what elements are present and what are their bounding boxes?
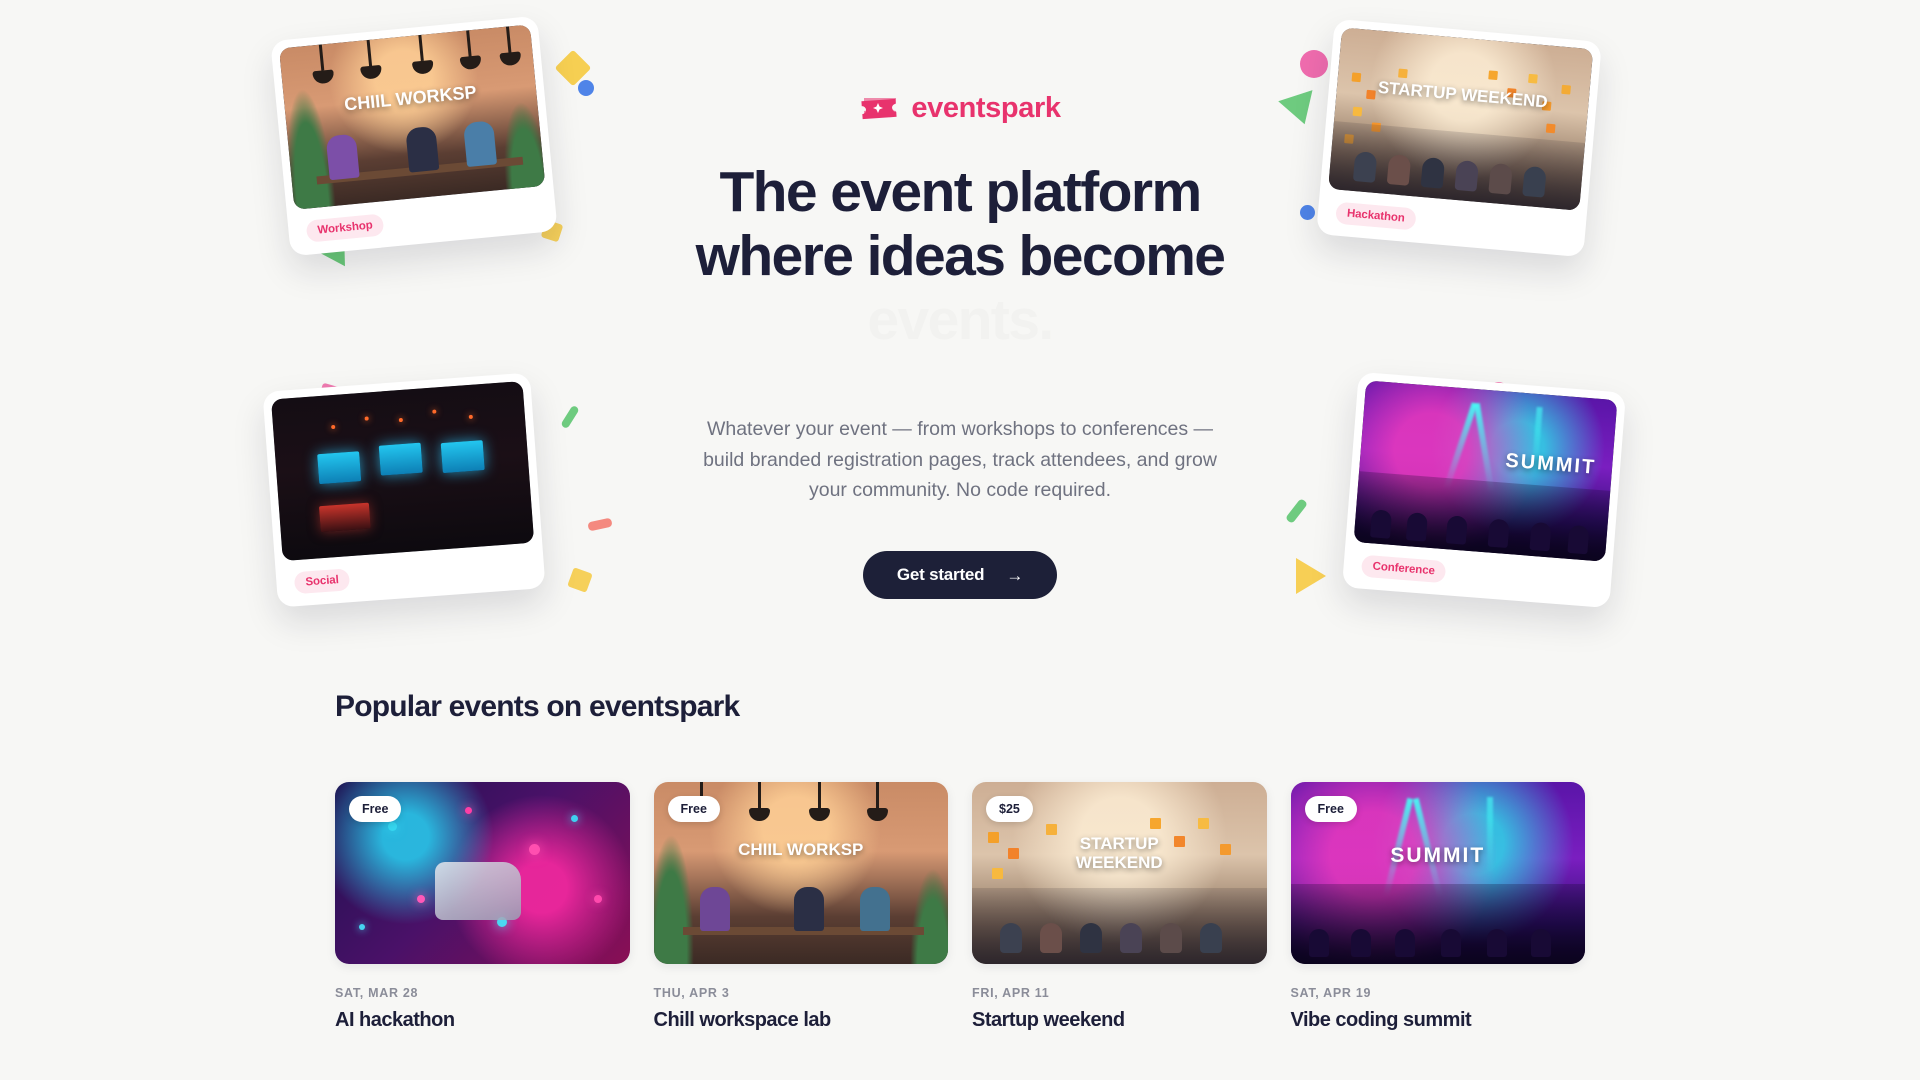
photo-art-coworking-space [279,24,545,209]
card-tag-badge: Social [294,568,351,594]
event-name: Vibe coding summit [1291,1009,1586,1032]
headline-line-2: where ideas become [610,225,1310,289]
card-tag-badge: Conference [1361,555,1447,584]
subtitle-line-1: Whatever your event — from workshops to … [707,418,1213,440]
pink-circle-icon [1300,50,1328,78]
event-name: AI hackathon [335,1009,630,1032]
hero-subtitle: Whatever your event — from workshops to … [610,414,1310,505]
event-date: SAT, MAR 28 [335,986,630,1000]
event-card[interactable]: Free CHIIL W [654,782,949,1032]
card-tag-badge: Hackathon [1335,202,1417,231]
event-date: FRI, APR 11 [972,986,1267,1000]
event-thumbnail: Free [335,782,630,964]
cta-container: Get started → [610,551,1310,599]
subtitle-line-2: build branded registration pages, track … [703,449,1217,471]
hero-section: CHIIL WORKSP Workshop [0,0,1920,690]
landing-page: CHIIL WORKSP Workshop [0,0,1920,1080]
green-bar-icon [560,405,580,430]
page-title: The event platform where ideas become ev… [610,161,1310,352]
card-photo: CHIIL WORKSP [279,24,545,209]
event-name: Startup weekend [972,1009,1267,1032]
arrow-right-icon: → [1006,567,1023,584]
yellow-square-icon [567,567,593,593]
headline-line-3: events. [610,289,1310,353]
photo-art-neon-summit-stage [1354,380,1618,561]
brand-logo[interactable]: eventspark [610,92,1310,125]
event-price-badge: $25 [986,796,1033,822]
floating-card-social[interactable]: Social [262,372,545,607]
hero-content: eventspark The event platform where idea… [610,92,1310,599]
ticket-sparkle-icon [859,95,899,123]
event-date: THU, APR 3 [654,986,949,1000]
get-started-button[interactable]: Get started → [863,551,1057,599]
coral-bar-icon [587,518,612,532]
popular-events-title: Popular events on eventspark [335,690,1585,724]
event-card[interactable]: Free SUMMIT [1291,782,1586,1032]
event-thumbnail: Free CHIIL W [654,782,949,964]
card-photo: STARTUP WEEKEND [1328,27,1593,210]
subtitle-line-3: your community. No code required. [809,479,1111,501]
event-price-badge: Free [668,796,720,822]
card-tag-badge: Workshop [306,213,385,242]
photo-art-sticky-note-wall [1328,27,1593,210]
card-photo [271,381,534,561]
event-price-badge: Free [349,796,401,822]
event-thumbnail: Free SUMMIT [1291,782,1586,964]
event-card[interactable]: $25 [972,782,1267,1032]
event-name: Chill workspace lab [654,1009,949,1032]
get-started-label: Get started [897,565,985,585]
floating-card-conference[interactable]: SUMMIT Conference [1342,372,1626,608]
brand-name: eventspark [911,92,1060,125]
event-price-badge: Free [1305,796,1357,822]
event-grid: Free SAT, MAR 28 [335,782,1585,1032]
photo-art-dark-neon-lab [271,381,534,561]
card-photo: SUMMIT [1354,380,1618,561]
event-thumbnail: $25 [972,782,1267,964]
floating-card-hackathon[interactable]: STARTUP WEEKEND Hackathon [1316,19,1602,258]
popular-events-section: Popular events on eventspark Free [0,690,1920,1032]
headline-line-1: The event platform [610,161,1310,225]
event-date: SAT, APR 19 [1291,986,1586,1000]
blue-circle-icon [578,80,594,96]
event-card[interactable]: Free SAT, MAR 28 [335,782,630,1032]
floating-card-workshop[interactable]: CHIIL WORKSP Workshop [270,16,557,257]
